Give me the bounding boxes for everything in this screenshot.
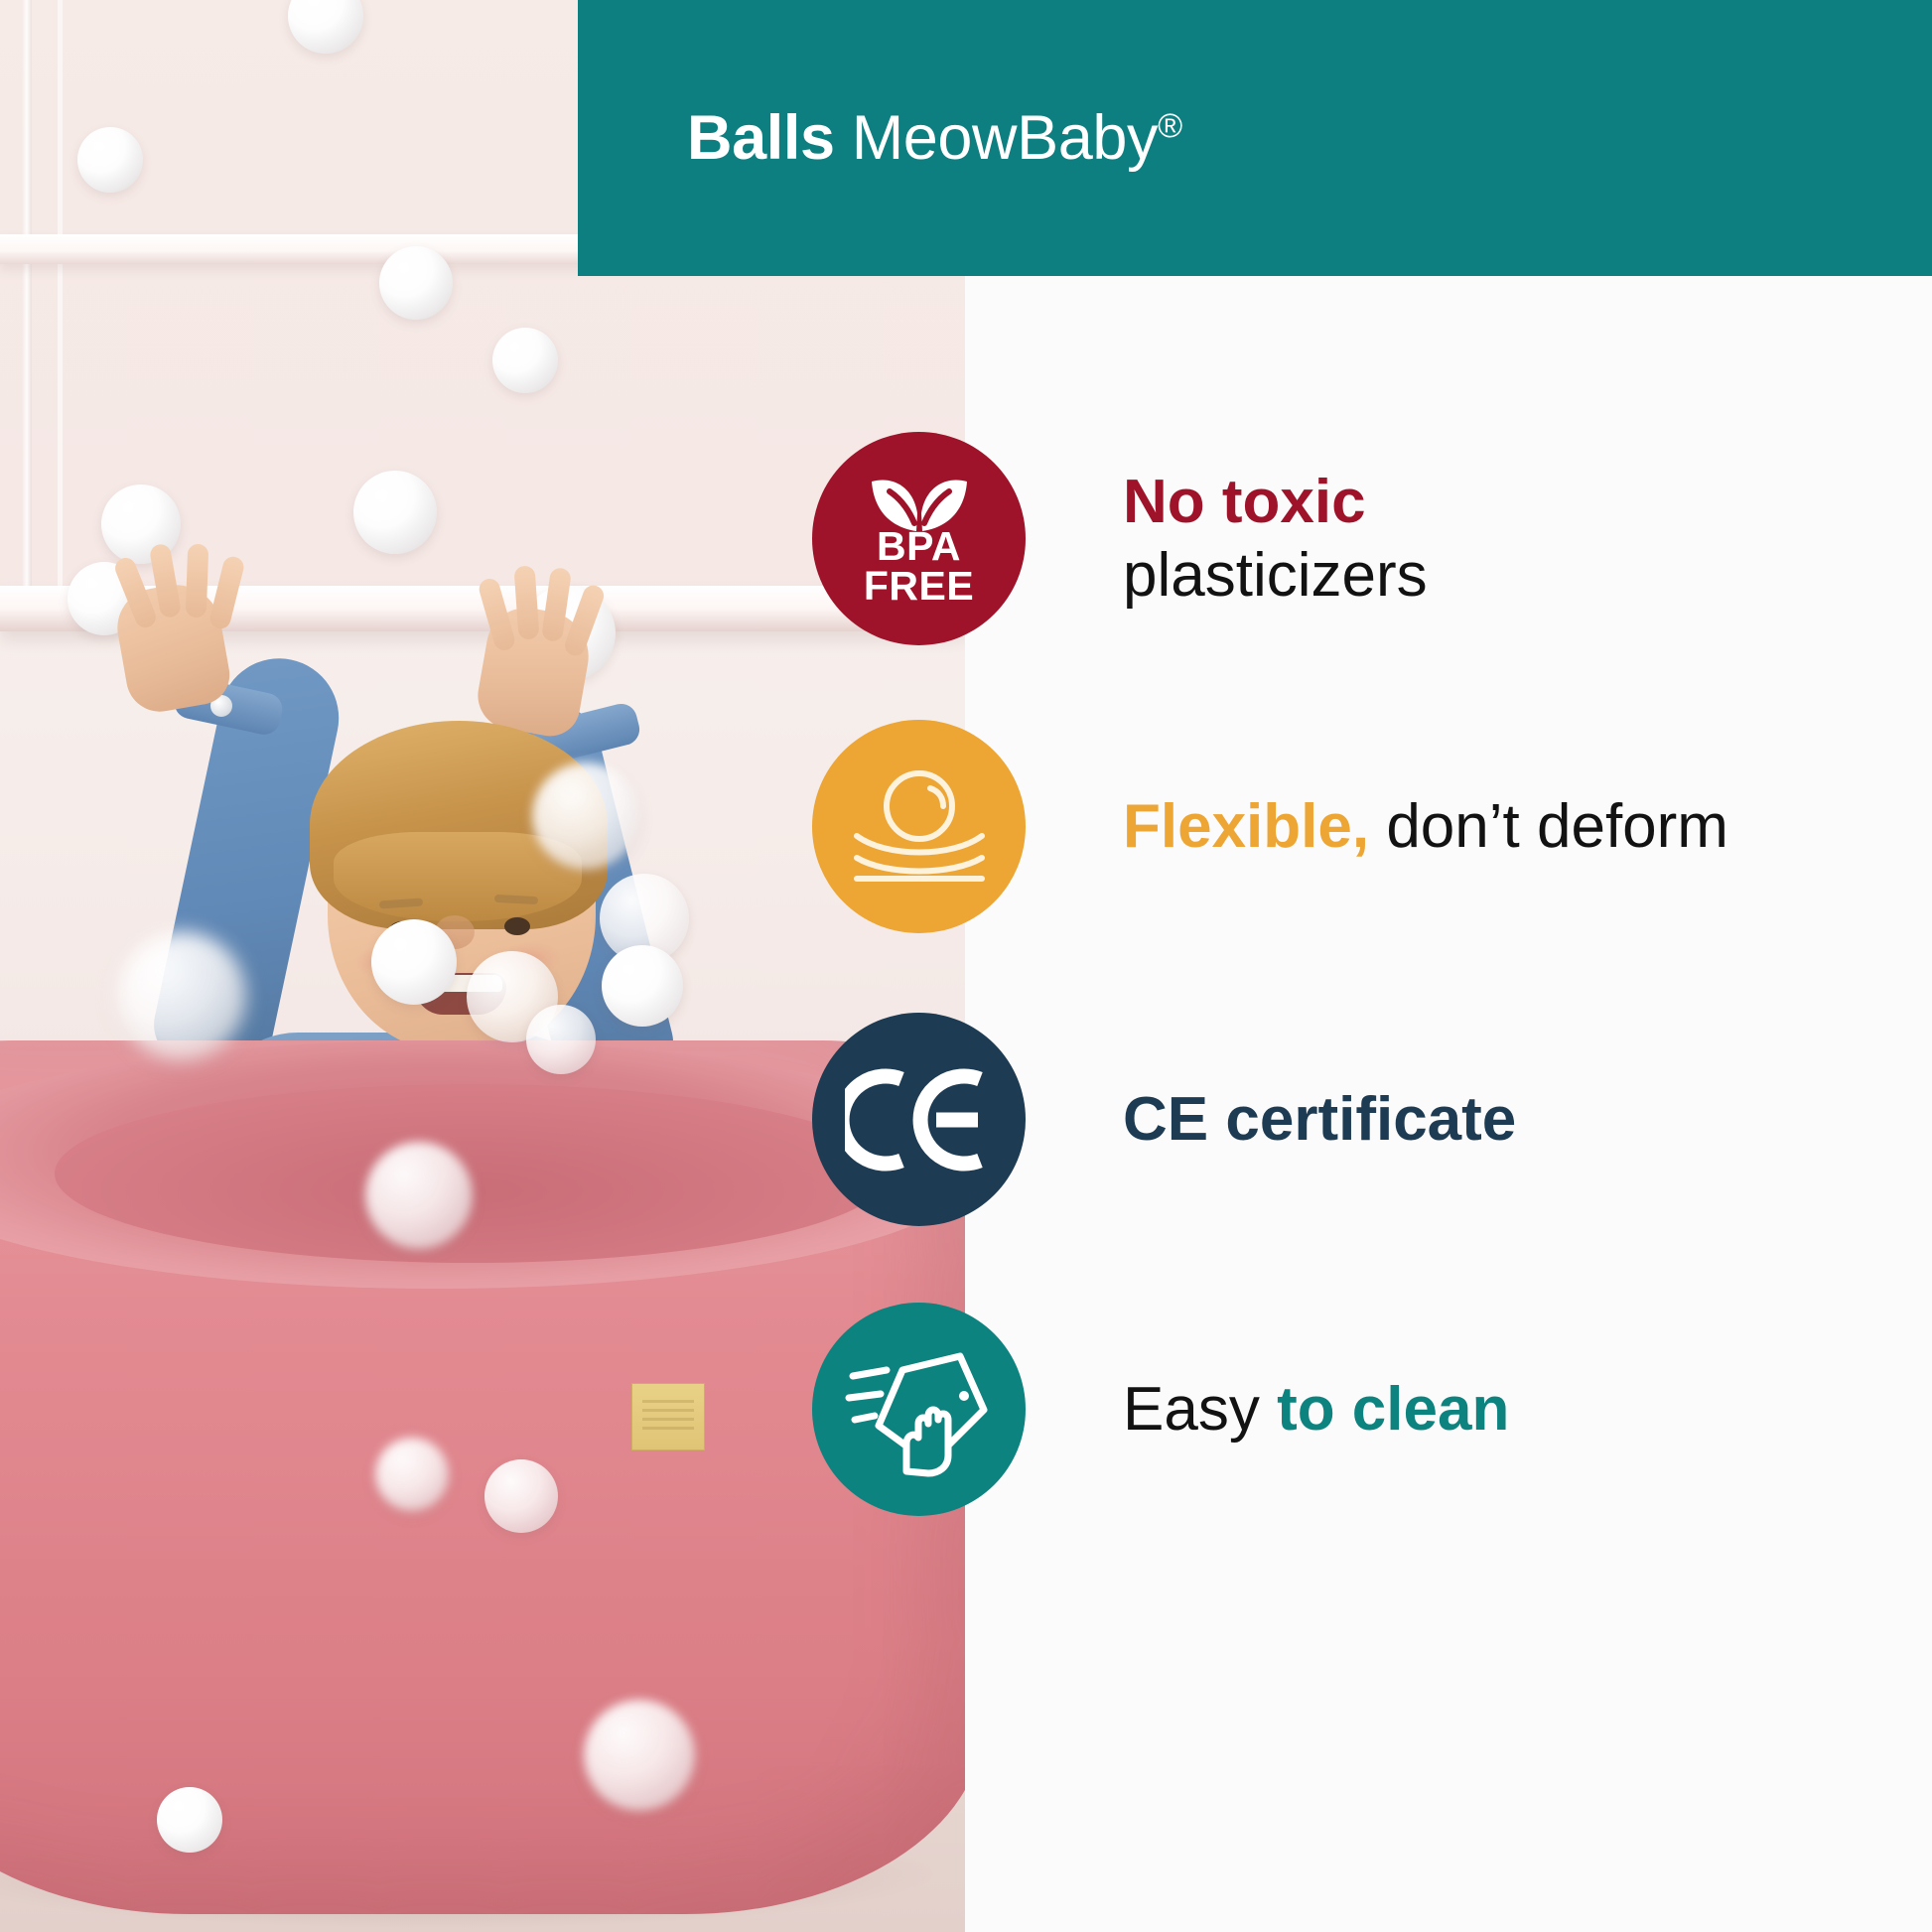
page-title-bold: Balls <box>687 103 835 173</box>
pit-ball <box>484 1459 558 1533</box>
ball-on-waves-icon <box>845 762 994 892</box>
feature-item-flexible: Flexible, don’t deform <box>812 720 1932 933</box>
ball-pit-interior <box>55 1084 889 1263</box>
ce-mark-icon <box>812 1013 1026 1226</box>
pit-ball-foreground <box>584 1700 695 1811</box>
pit-ball <box>157 1787 222 1853</box>
feature-item-ce: CE certificate <box>812 1013 1932 1226</box>
pit-ball <box>602 945 683 1027</box>
feature-text-no-toxic: No toxic plasticizers <box>1123 466 1428 611</box>
flexible-ball-icon <box>812 720 1026 933</box>
pit-ball <box>532 762 639 870</box>
brand-label-tag <box>631 1383 705 1450</box>
feature-item-easy-clean: Easy to clean <box>812 1303 1932 1516</box>
page-title-light: MeowBaby <box>835 103 1159 173</box>
feature-rest-text: don’t deform <box>1369 792 1728 861</box>
feature-item-no-toxic: BPA FREE No toxic plasticizers <box>812 432 1932 645</box>
registered-trademark-icon: ® <box>1158 107 1182 145</box>
bpa-free-icon: BPA FREE <box>812 432 1026 645</box>
pit-ball-foreground <box>375 1438 449 1511</box>
child-finger <box>186 544 209 619</box>
pit-ball-foreground <box>365 1142 473 1249</box>
ce-glyph-icon <box>845 1065 994 1174</box>
feature-accent-text: Easy <box>1123 1375 1277 1444</box>
feature-text-easy-clean: Easy to clean <box>1123 1373 1509 1446</box>
feature-accent-text: CE certificate <box>1123 1085 1516 1154</box>
child-eye <box>504 917 530 935</box>
wipe-clean-icon <box>812 1303 1026 1516</box>
feature-rest-text: plasticizers <box>1123 541 1428 610</box>
hand-wiping-cloth-icon <box>845 1340 994 1479</box>
bpa-line-2: FREE <box>864 567 974 606</box>
page-title: Balls MeowBaby® <box>687 102 1182 174</box>
bpa-free-label: BPA FREE <box>864 527 974 606</box>
feature-text-flexible: Flexible, don’t deform <box>1123 790 1728 863</box>
feature-text-ce: CE certificate <box>1123 1083 1516 1156</box>
feature-rest-text: to clean <box>1277 1375 1509 1444</box>
child-finger <box>207 555 245 631</box>
product-photo <box>0 0 965 1932</box>
pit-ball <box>371 919 457 1005</box>
product-infographic: Balls MeowBaby® BPA FREE No toxic plasti… <box>0 0 1932 1932</box>
bpa-line-1: BPA <box>864 527 974 566</box>
header-bar: Balls MeowBaby® <box>578 0 1932 276</box>
pit-ball-foreground <box>117 931 246 1060</box>
pit-ball <box>526 1005 596 1074</box>
child-finger <box>513 565 539 639</box>
feature-accent-text: No toxic <box>1123 468 1366 536</box>
feature-accent-text: Flexible, <box>1123 792 1369 861</box>
